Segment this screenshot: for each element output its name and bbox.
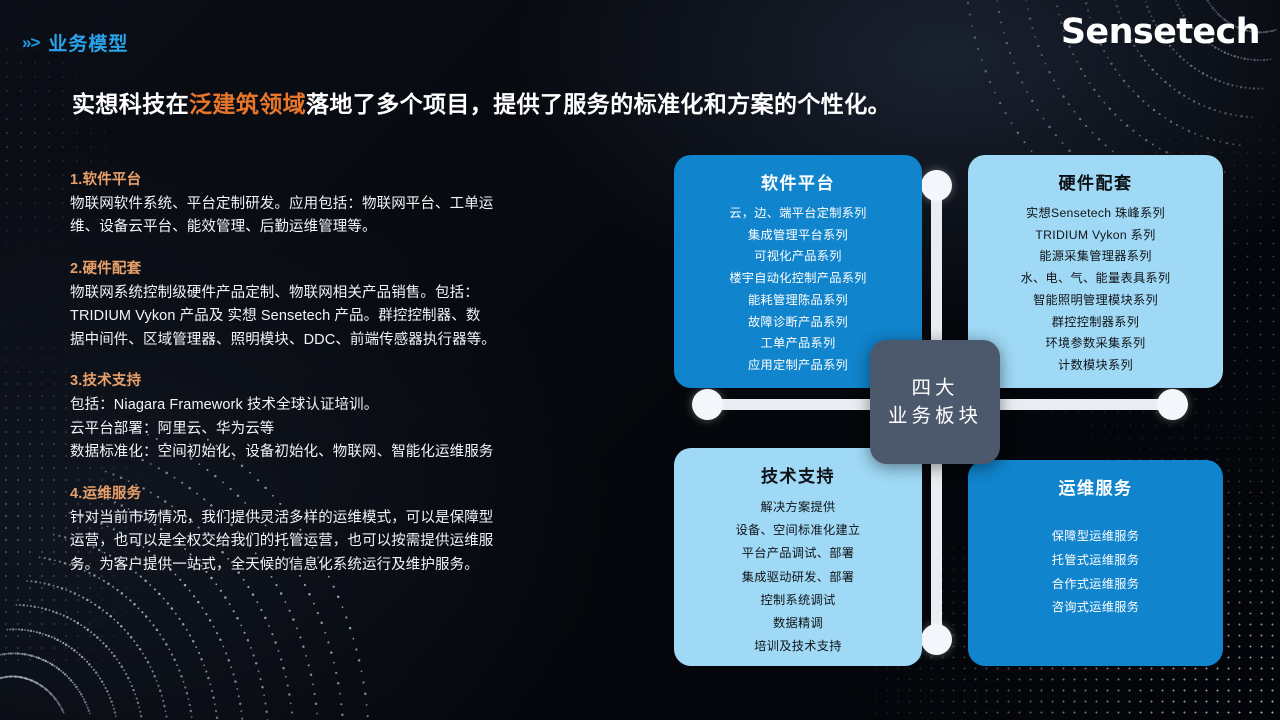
panel-item: 集成管理平台系列 — [748, 225, 848, 247]
panel-hardware-suite[interactable]: 硬件配套 实想Sensetech 珠峰系列 TRIDIUM Vykon 系列 能… — [968, 155, 1223, 388]
panel-item: 计数模块系列 — [1058, 355, 1133, 377]
panel-item: 集成驱动研发、部署 — [742, 566, 854, 589]
text-block-software: 1.软件平台 物联网软件系统、平台定制研发。应用包括：物联网平台、工单运 维、设… — [70, 168, 570, 240]
brand-logo: Sensetech — [1061, 12, 1260, 52]
panel-item: 合作式运维服务 — [1052, 573, 1139, 597]
block-body: 针对当前市场情况，我们提供灵活多样的运维模式，可以是保障型 运营，也可以是全权交… — [70, 507, 570, 577]
panel-item: 控制系统调试 — [761, 589, 836, 612]
headline-highlight: 泛建筑领域 — [189, 91, 306, 117]
block-body: 包括：Niagara Framework 技术全球认证培训。 云平台部署：阿里云… — [70, 394, 570, 464]
block-line: 务。为客户提供一站式，全天候的信息化系统运行及维护服务。 — [70, 554, 570, 577]
panel-title: 软件平台 — [761, 169, 835, 194]
panel-item: 实想Sensetech 珠峰系列 — [1026, 203, 1165, 225]
left-text-column: 1.软件平台 物联网软件系统、平台定制研发。应用包括：物联网平台、工单运 维、设… — [70, 168, 570, 594]
panel-item: 工单产品系列 — [761, 333, 836, 355]
business-segments-diagram: 软件平台 云，边、端平台定制系列 集成管理平台系列 可视化产品系列 楼宇自动化控… — [660, 140, 1260, 680]
panel-item: 能耗管理陈品系列 — [748, 290, 848, 312]
panel-item: 托管式运维服务 — [1052, 549, 1139, 573]
panel-item: 应用定制产品系列 — [748, 355, 848, 377]
panel-item: 环境参数采集系列 — [1046, 333, 1146, 355]
block-title: 2.硬件配套 — [70, 257, 570, 278]
text-block-hardware: 2.硬件配套 物联网系统控制级硬件产品定制、物联网相关产品销售。包括： TRID… — [70, 257, 570, 352]
section-tag-label: 业务模型 — [48, 29, 128, 56]
connector-node-left — [692, 389, 723, 420]
diagram-center-hub[interactable]: 四大 业务板块 — [870, 340, 1000, 464]
block-line: 数据标准化：空间初始化、设备初始化、物联网、智能化运维服务 — [70, 441, 570, 464]
block-line: 云平台部署：阿里云、华为云等 — [70, 418, 570, 441]
panel-item: 培训及技术支持 — [754, 635, 841, 658]
panel-title: 运维服务 — [1059, 474, 1133, 499]
block-title: 4.运维服务 — [70, 482, 570, 503]
panel-item: 咨询式运维服务 — [1052, 596, 1139, 620]
block-body: 物联网系统控制级硬件产品定制、物联网相关产品销售。包括： TRIDIUM Vyk… — [70, 282, 570, 352]
panel-item: 群控控制器系列 — [1052, 312, 1139, 334]
connector-node-right — [1157, 389, 1188, 420]
panel-item: 水、电、气、能量表具系列 — [1021, 268, 1171, 290]
headline-part-2: 落地了多个项目，提供了服务的标准化和方案的个性化。 — [306, 91, 891, 117]
connector-node-bottom — [921, 624, 952, 655]
block-title: 3.技术支持 — [70, 369, 570, 390]
panel-item: 可视化产品系列 — [754, 246, 841, 268]
block-line: 据中间件、区域管理器、照明模块、DDC、前端传感器执行器等。 — [70, 329, 570, 352]
block-line: 物联网软件系统、平台定制研发。应用包括：物联网平台、工单运 — [70, 193, 570, 216]
panel-item: 云，边、端平台定制系列 — [729, 203, 866, 225]
block-line: TRIDIUM Vykon 产品及 实想 Sensetech 产品。群控控制器、… — [70, 305, 570, 328]
headline-part-1: 实想科技在 — [72, 91, 189, 117]
panel-item: 平台产品调试、部署 — [742, 542, 854, 565]
panel-technical-support[interactable]: 技术支持 解决方案提供 设备、空间标准化建立 平台产品调试、部署 集成驱动研发、… — [674, 448, 922, 666]
block-line: 包括：Niagara Framework 技术全球认证培训。 — [70, 394, 570, 417]
section-tag: »> 业务模型 — [22, 29, 128, 56]
panel-item: 智能照明管理模块系列 — [1033, 290, 1158, 312]
panel-title: 硬件配套 — [1059, 169, 1133, 194]
block-line: 维、设备云平台、能效管理、后勤运维管理等。 — [70, 216, 570, 239]
panel-item: 设备、空间标准化建立 — [736, 519, 861, 542]
panel-item: 保障型运维服务 — [1052, 525, 1139, 549]
text-block-ops: 4.运维服务 针对当前市场情况，我们提供灵活多样的运维模式，可以是保障型 运营，… — [70, 482, 570, 577]
panel-item: TRIDIUM Vykon 系列 — [1035, 225, 1155, 247]
block-line: 物联网系统控制级硬件产品定制、物联网相关产品销售。包括： — [70, 282, 570, 305]
text-block-support: 3.技术支持 包括：Niagara Framework 技术全球认证培训。 云平… — [70, 369, 570, 464]
block-body: 物联网软件系统、平台定制研发。应用包括：物联网平台、工单运 维、设备云平台、能效… — [70, 193, 570, 240]
panel-item: 数据精调 — [773, 612, 823, 635]
chevrons-right-icon: »> — [22, 33, 39, 53]
hub-line-2: 业务板块 — [888, 402, 982, 430]
panel-item: 楼宇自动化控制产品系列 — [729, 268, 866, 290]
connector-node-top — [921, 170, 952, 201]
block-line: 针对当前市场情况，我们提供灵活多样的运维模式，可以是保障型 — [70, 507, 570, 530]
panel-item: 能源采集管理器系列 — [1039, 246, 1151, 268]
panel-item: 故障诊断产品系列 — [748, 312, 848, 334]
hub-line-1: 四大 — [911, 374, 958, 402]
block-line: 运营，也可以是全权交给我们的托管运营，也可以按需提供运维服 — [70, 530, 570, 553]
page-headline: 实想科技在泛建筑领域落地了多个项目，提供了服务的标准化和方案的个性化。 — [72, 85, 891, 119]
panel-title: 技术支持 — [761, 462, 835, 487]
block-title: 1.软件平台 — [70, 168, 570, 189]
panel-item: 解决方案提供 — [761, 496, 836, 519]
panel-operations-service[interactable]: 运维服务 保障型运维服务 托管式运维服务 合作式运维服务 咨询式运维服务 — [968, 460, 1223, 666]
